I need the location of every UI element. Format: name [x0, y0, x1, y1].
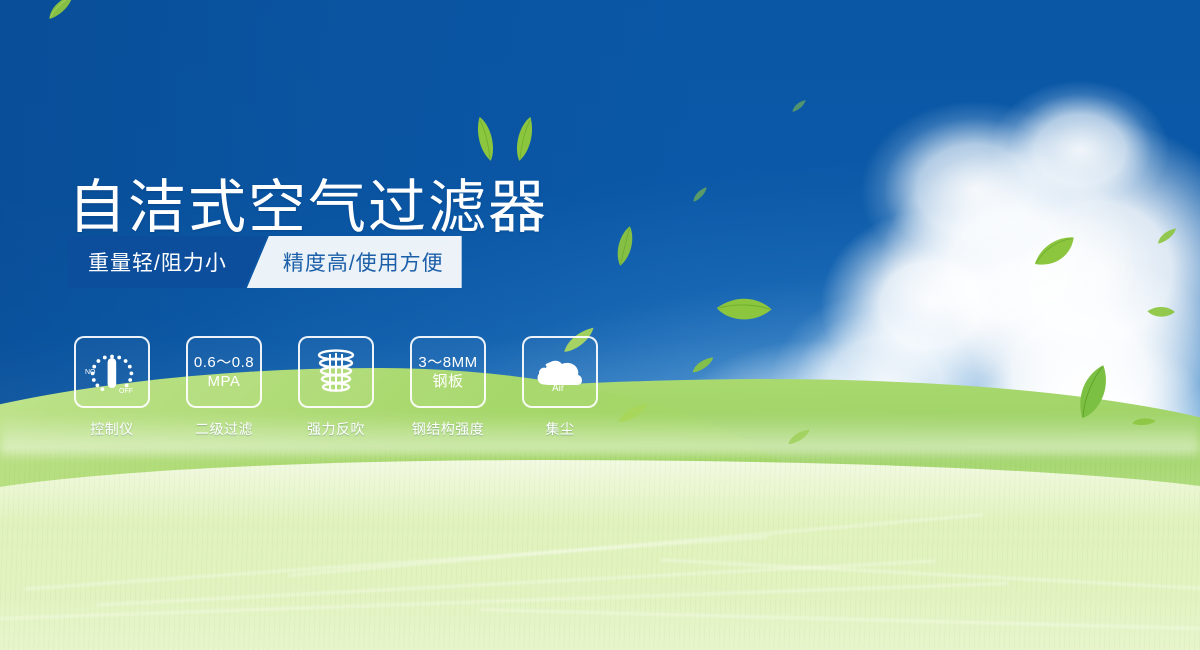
feature-label: 控制仪 — [90, 419, 134, 439]
feature-item-control-dial[interactable]: NO OFF 控制仪 — [70, 336, 154, 439]
leaf-icon — [467, 113, 504, 164]
steel-thickness-line1: 3～8MM — [418, 353, 477, 372]
feature-icon-box: NO OFF — [74, 336, 150, 408]
feature-list: NO OFF 控制仪 0.6～0.8 MPA 二级过滤 — [70, 336, 602, 439]
feature-icon-box: Air — [522, 336, 598, 408]
filter-cartridge-icon — [312, 347, 360, 397]
subtitle-right-panel: 精度高/使用方便 — [247, 236, 462, 288]
feature-label: 集尘 — [546, 419, 575, 439]
feature-item-dust-collection[interactable]: Air 集尘 — [518, 336, 602, 439]
dial-off-label: OFF — [119, 388, 133, 395]
pressure-value-line1: 0.6～0.8 — [194, 353, 254, 372]
steel-material-line2: 钢板 — [432, 372, 463, 391]
feature-item-blowback[interactable]: 强力反吹 — [294, 336, 378, 439]
feature-icon-box — [298, 336, 374, 408]
banner-content: 自洁式空气过滤器 重量轻/阻力小 精度高/使用方便 — [0, 0, 1200, 650]
product-banner: 自洁式空气过滤器 重量轻/阻力小 精度高/使用方便 — [0, 0, 1200, 650]
leaf-icon — [505, 113, 542, 164]
feature-label: 二级过滤 — [195, 419, 253, 439]
air-cloud-icon: Air — [533, 352, 587, 392]
feature-item-steel-plate[interactable]: 3～8MM 钢板 钢结构强度 — [406, 336, 490, 439]
feature-icon-box: 0.6～0.8 MPA — [186, 336, 262, 408]
dial-on-label: NO — [85, 369, 96, 376]
air-label: Air — [552, 383, 565, 392]
page-title: 自洁式空气过滤器 — [68, 179, 548, 237]
feature-label: 钢结构强度 — [412, 419, 485, 439]
subtitle-bar: 重量轻/阻力小 精度高/使用方便 — [68, 236, 462, 288]
feature-icon-box: 3～8MM 钢板 — [410, 336, 486, 408]
pressure-unit-line2: MPA — [208, 372, 241, 391]
subtitle-left-panel: 重量轻/阻力小 — [68, 236, 267, 288]
feature-label: 强力反吹 — [307, 419, 365, 439]
feature-item-pressure[interactable]: 0.6～0.8 MPA 二级过滤 — [182, 336, 266, 439]
control-dial-icon: NO OFF — [83, 346, 141, 398]
